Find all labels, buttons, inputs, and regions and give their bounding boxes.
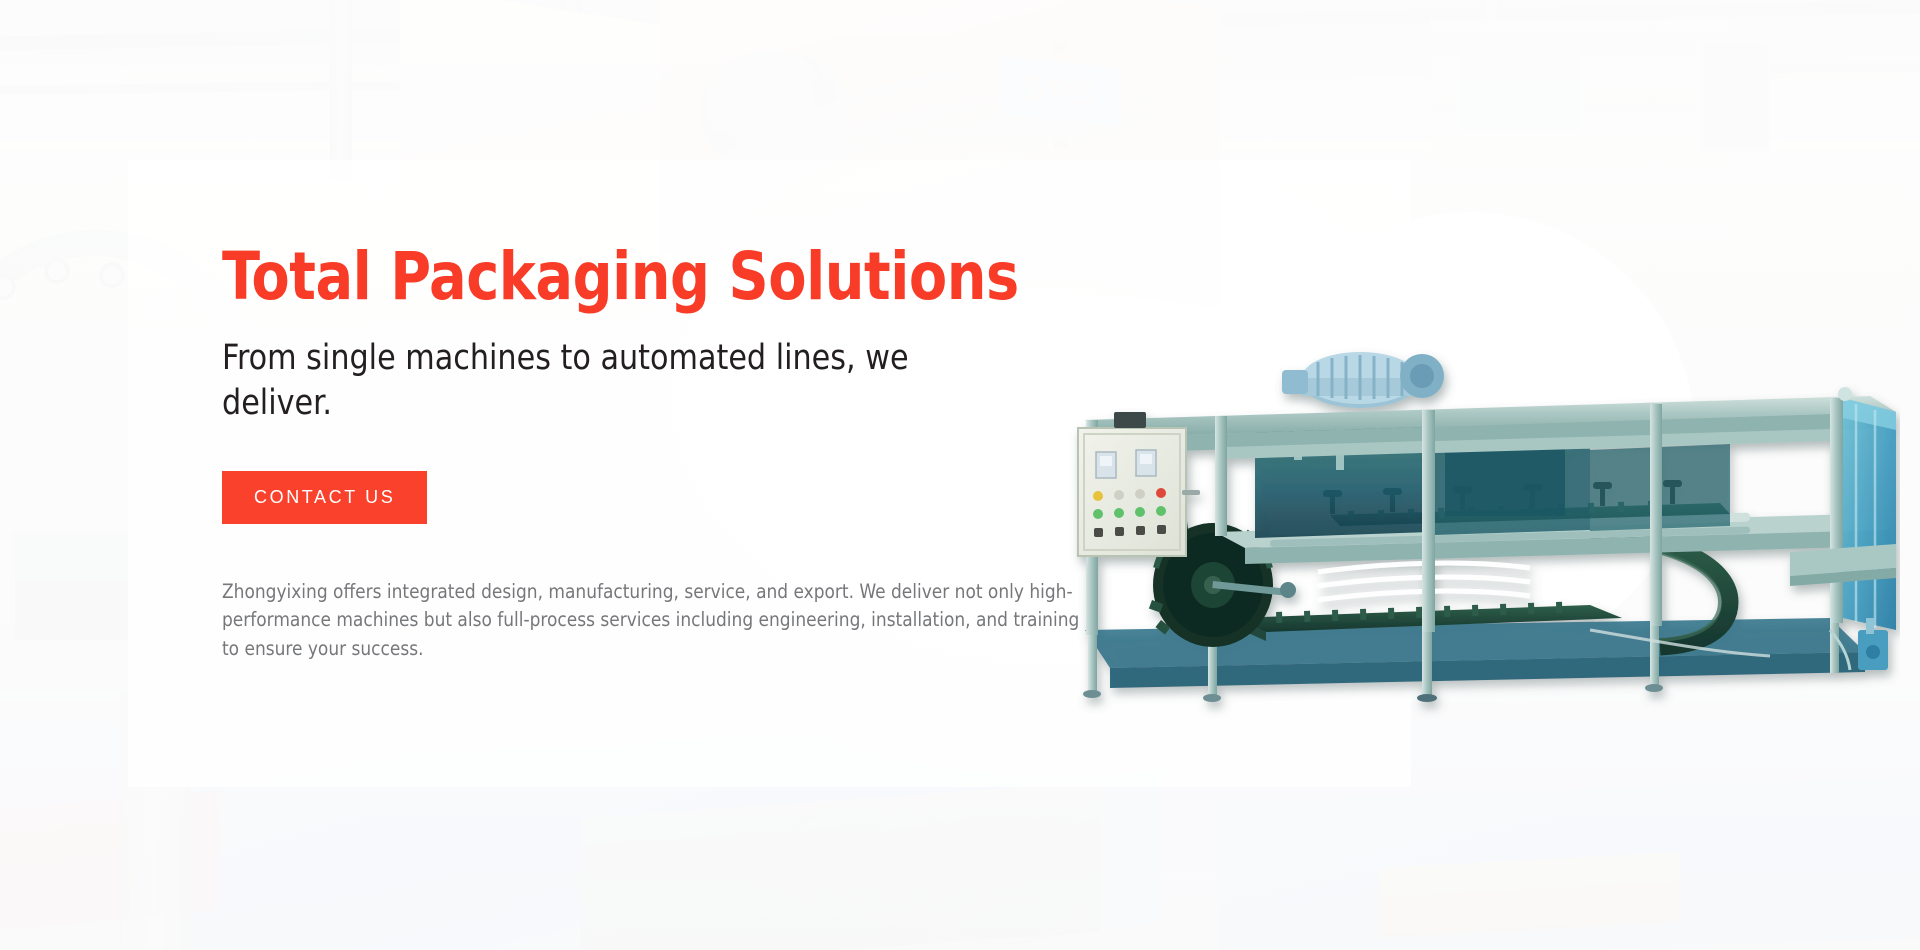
hero-description: Zhongyixing offers integrated design, ma… xyxy=(222,578,1085,665)
hero-copy: Total Packaging Solutions From single ma… xyxy=(222,244,1142,664)
page-title: Total Packaging Solutions xyxy=(222,244,1087,310)
contact-us-button[interactable]: CONTACT US xyxy=(222,471,427,524)
hero-banner: SPS xyxy=(0,0,1920,950)
hero-subheadline: From single machines to automated lines,… xyxy=(222,336,980,426)
packaging-machine-image xyxy=(1030,300,1900,720)
